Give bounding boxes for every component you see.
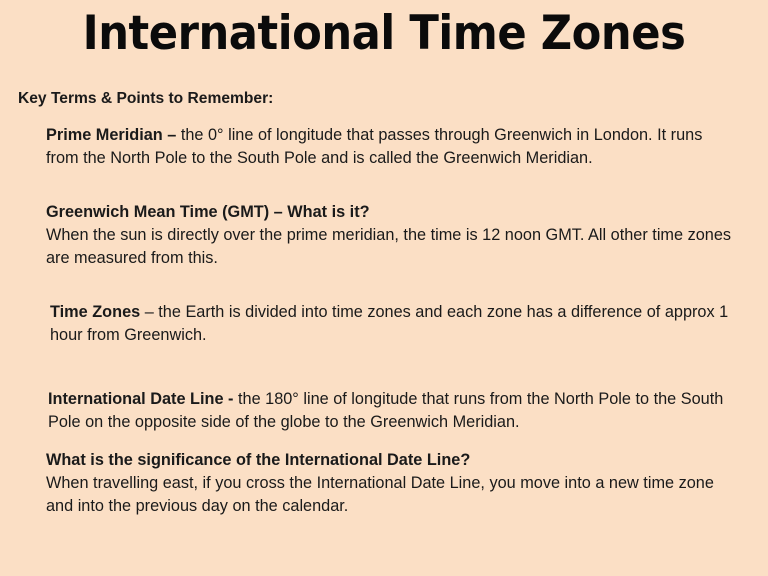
question-significance: What is the significance of the Internat… — [46, 449, 734, 472]
paragraph-time-zones: Time Zones – the Earth is divided into t… — [50, 301, 730, 347]
text-block-international-date-line: International Date Line - the 180° line … — [48, 388, 728, 434]
text-block-greenwich-mean-time: Greenwich Mean Time (GMT) – What is it? … — [46, 201, 736, 270]
text-block-time-zones: Time Zones – the Earth is divided into t… — [50, 301, 730, 347]
term-prime-meridian: Prime Meridian – — [46, 126, 181, 144]
section-label: Key Terms & Points to Remember: — [18, 87, 273, 110]
slide-canvas: International Time Zones Key Terms & Poi… — [0, 0, 768, 576]
page-title: International Time Zones — [31, 6, 738, 62]
question-greenwich-mean-time: Greenwich Mean Time (GMT) – What is it? — [46, 201, 736, 224]
paragraph-prime-meridian: Prime Meridian – the 0° line of longitud… — [46, 124, 738, 170]
text-block-prime-meridian: Prime Meridian – the 0° line of longitud… — [46, 124, 738, 170]
section-label-text: Key Terms & Points to Remember: — [18, 87, 273, 110]
text-block-significance: What is the significance of the Internat… — [46, 449, 734, 518]
answer-significance: When travelling east, if you cross the I… — [46, 472, 734, 518]
paragraph-international-date-line: International Date Line - the 180° line … — [48, 388, 728, 434]
term-time-zones: Time Zones — [50, 303, 145, 321]
term-international-date-line: International Date Line - — [48, 390, 238, 408]
definition-time-zones: – the Earth is divided into time zones a… — [50, 303, 728, 344]
answer-greenwich-mean-time: When the sun is directly over the prime … — [46, 224, 736, 270]
